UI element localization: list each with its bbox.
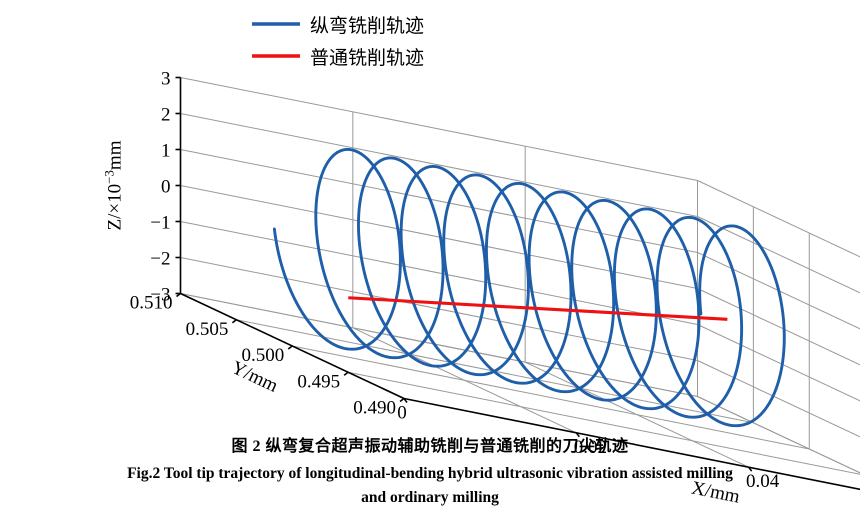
figure-caption-english: Fig.2 Tool tip trajectory of longitudina…	[0, 462, 860, 510]
legend-label: 普通铣削轨迹	[310, 47, 424, 69]
y-tick-label: 0.505	[186, 319, 229, 340]
z-tick-label: −1	[150, 213, 170, 234]
z-axis-label: Z/×10−3mm	[102, 140, 126, 230]
z-tick-label: 1	[161, 141, 171, 162]
y-tick-label: 0.510	[130, 293, 173, 314]
figure-caption-english-line2: and ordinary milling	[0, 486, 860, 510]
legend-label: 纵弯铣削轨迹	[310, 15, 424, 37]
figure-caption-english-line1: Fig.2 Tool tip trajectory of longitudina…	[127, 465, 733, 482]
figure-caption-chinese: 图 2 纵弯复合超声振动辅助铣削与普通铣削的刀尖轨迹	[0, 432, 860, 456]
z-tick-label: −2	[150, 249, 170, 270]
z-tick-label: 3	[161, 69, 171, 90]
z-tick-label: 2	[161, 105, 171, 126]
y-tick-label: 0.490	[353, 398, 396, 419]
z-tick-label: 0	[161, 177, 171, 198]
y-tick-label: 0.495	[297, 371, 340, 392]
x-tick-label: 0	[397, 403, 407, 424]
